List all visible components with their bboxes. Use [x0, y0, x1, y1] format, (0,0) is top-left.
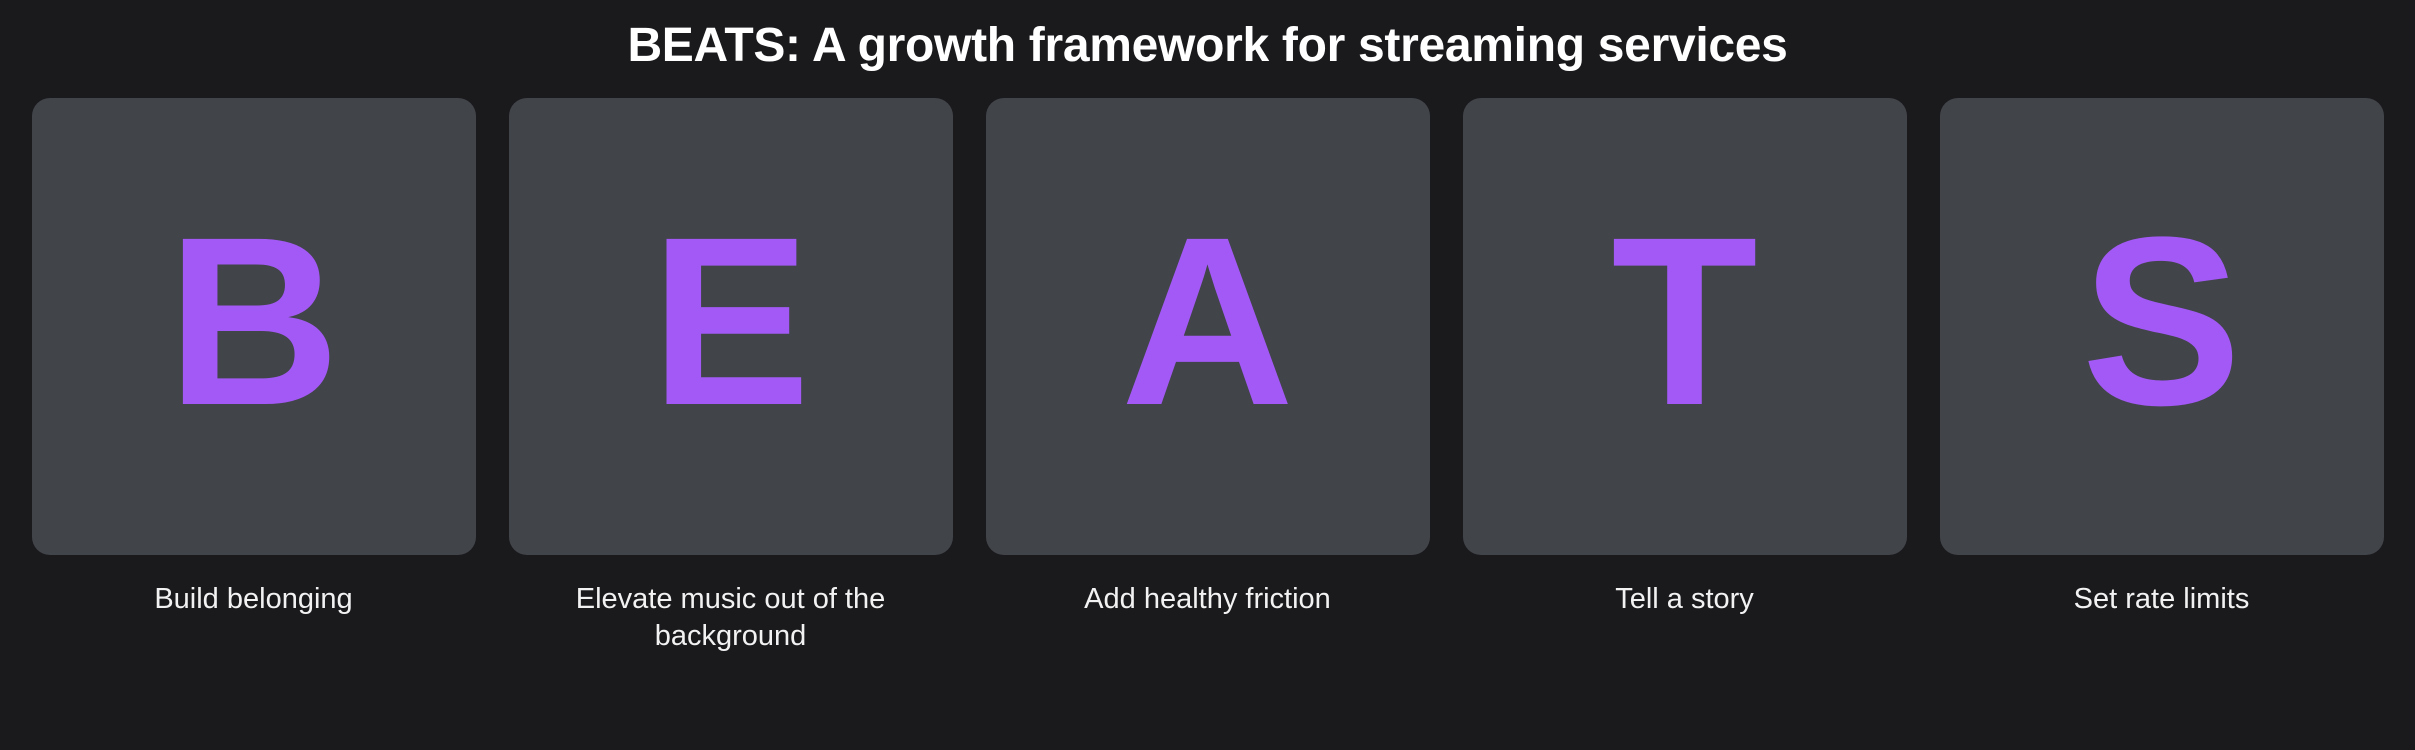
letter-tile-e[interactable]: E	[509, 98, 953, 555]
letter-glyph-b: B	[167, 201, 340, 441]
beats-card-a[interactable]: A Add healthy friction	[986, 98, 1430, 618]
beats-card-s[interactable]: S Set rate limits	[1940, 98, 2384, 618]
card-label-b: Build belonging	[64, 581, 444, 618]
letter-glyph-a: A	[1121, 201, 1294, 441]
card-label-t: Tell a story	[1495, 581, 1875, 618]
letter-tile-s[interactable]: S	[1940, 98, 2384, 555]
beats-card-e[interactable]: E Elevate music out of the background	[509, 98, 953, 655]
beats-card-b[interactable]: B Build belonging	[32, 98, 476, 618]
card-label-e: Elevate music out of the background	[541, 581, 921, 655]
letter-tile-b[interactable]: B	[32, 98, 476, 555]
letter-tile-t[interactable]: T	[1463, 98, 1907, 555]
beats-cards-row: B Build belonging E Elevate music out of…	[32, 98, 2384, 655]
card-label-a: Add healthy friction	[1018, 581, 1398, 618]
letter-glyph-t: T	[1611, 201, 1758, 441]
letter-glyph-s: S	[2081, 201, 2241, 441]
card-label-s: Set rate limits	[1972, 581, 2352, 618]
letter-tile-a[interactable]: A	[986, 98, 1430, 555]
letter-glyph-e: E	[650, 201, 810, 441]
beats-framework-page: BEATS: A growth framework for streaming …	[0, 0, 2415, 750]
beats-card-t[interactable]: T Tell a story	[1463, 98, 1907, 618]
page-title: BEATS: A growth framework for streaming …	[0, 0, 2415, 70]
